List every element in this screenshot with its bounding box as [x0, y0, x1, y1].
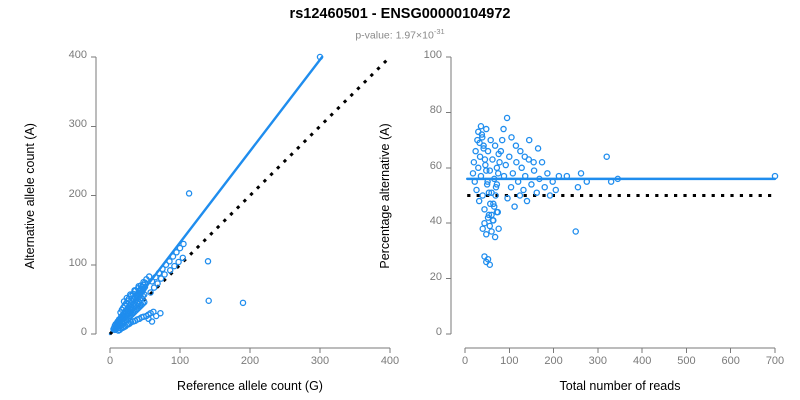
- scatter-point-group: [470, 115, 777, 267]
- scatter-point: [477, 198, 482, 203]
- axis-tick-label: 0: [80, 355, 140, 367]
- scatter-point: [539, 160, 544, 165]
- scatter-point: [471, 160, 476, 165]
- figure-root: rs12460501 - ENSG00000104972 p-value: 1.…: [0, 0, 800, 400]
- scatter-point: [524, 198, 529, 203]
- scatter-point: [510, 171, 515, 176]
- scatter-point: [205, 259, 210, 264]
- scatter-point: [497, 160, 502, 165]
- scatter-point: [573, 229, 578, 234]
- scatter-point: [508, 185, 513, 190]
- scatter-point: [517, 193, 522, 198]
- scatter-point: [545, 171, 550, 176]
- panel-left-scatter: Alternative allele count (A) Reference a…: [0, 0, 400, 400]
- axis-tick-label: 200: [29, 188, 87, 200]
- axis-tick-label: 60: [384, 160, 442, 172]
- scatter-point: [480, 193, 485, 198]
- scatter-point: [482, 157, 487, 162]
- scatter-point: [534, 190, 539, 195]
- scatter-point: [496, 171, 501, 176]
- scatter-point: [487, 223, 492, 228]
- scatter-point: [181, 241, 186, 246]
- axis-tick-label: 40: [384, 215, 442, 227]
- axis-tick-label: 700: [745, 355, 800, 367]
- scatter-point: [494, 165, 499, 170]
- scatter-point: [476, 129, 481, 134]
- scatter-point: [487, 262, 492, 267]
- scatter-point: [493, 143, 498, 148]
- axis-tick-label: 0: [29, 326, 87, 338]
- scatter-point: [496, 226, 501, 231]
- scatter-point: [488, 138, 493, 143]
- axis-tick-label: 80: [384, 104, 442, 116]
- scatter-point: [180, 255, 185, 260]
- scatter-point: [484, 126, 489, 131]
- scatter-point: [489, 229, 494, 234]
- scatter-point: [531, 168, 536, 173]
- scatter-point: [575, 185, 580, 190]
- scatter-point: [484, 232, 489, 237]
- scatter-point: [474, 187, 479, 192]
- scatter-point: [578, 171, 583, 176]
- axis-tick-label: 300: [290, 355, 350, 367]
- scatter-point: [501, 126, 506, 131]
- right-x-axis-label: Total number of reads: [560, 379, 681, 393]
- scatter-point: [500, 138, 505, 143]
- scatter-point: [484, 168, 489, 173]
- scatter-point: [172, 264, 177, 269]
- scatter-point: [513, 143, 518, 148]
- scatter-point: [514, 160, 519, 165]
- scatter-point: [478, 124, 483, 129]
- scatter-point: [187, 191, 192, 196]
- scatter-point: [531, 160, 536, 165]
- scatter-point: [168, 268, 173, 273]
- scatter-point: [470, 171, 475, 176]
- scatter-point: [507, 154, 512, 159]
- axis-tick-label: 100: [29, 257, 87, 269]
- scatter-point: [476, 165, 481, 170]
- axis-tick-label: 400: [29, 49, 87, 61]
- axis-tick-label: 0: [384, 326, 442, 338]
- scatter-point: [503, 162, 508, 167]
- scatter-point: [162, 272, 167, 277]
- axis-tick-label: 20: [384, 271, 442, 283]
- scatter-point: [240, 300, 245, 305]
- scatter-point: [483, 162, 488, 167]
- scatter-point: [604, 154, 609, 159]
- axis-tick-label: 100: [150, 355, 210, 367]
- scatter-point: [519, 165, 524, 170]
- scatter-point: [518, 149, 523, 154]
- scatter-point: [527, 138, 532, 143]
- scatter-point: [535, 146, 540, 151]
- axis-tick-label: 100: [384, 49, 442, 61]
- scatter-point: [542, 185, 547, 190]
- scatter-point: [521, 187, 526, 192]
- scatter-point: [504, 115, 509, 120]
- scatter-point: [490, 157, 495, 162]
- right-plot-canvas: [400, 0, 800, 400]
- panel-right-scatter: Percentage alternative (A) Total number …: [400, 0, 800, 400]
- scatter-point: [176, 259, 181, 264]
- identity-line: [110, 57, 390, 334]
- scatter-point: [482, 221, 487, 226]
- scatter-point: [509, 135, 514, 140]
- scatter-point: [553, 187, 558, 192]
- scatter-point: [512, 204, 517, 209]
- left-x-axis-label: Reference allele count (G): [177, 379, 323, 393]
- scatter-point: [206, 298, 211, 303]
- scatter-point: [167, 259, 172, 264]
- axis-tick-label: 200: [220, 355, 280, 367]
- scatter-point: [482, 207, 487, 212]
- scatter-point: [529, 182, 534, 187]
- right-y-axis-label: Percentage alternative (A): [378, 123, 392, 268]
- scatter-point: [473, 149, 478, 154]
- scatter-point: [493, 234, 498, 239]
- scatter-point: [522, 154, 527, 159]
- scatter-point: [158, 311, 163, 316]
- scatter-point: [480, 226, 485, 231]
- axis-tick-label: 300: [29, 118, 87, 130]
